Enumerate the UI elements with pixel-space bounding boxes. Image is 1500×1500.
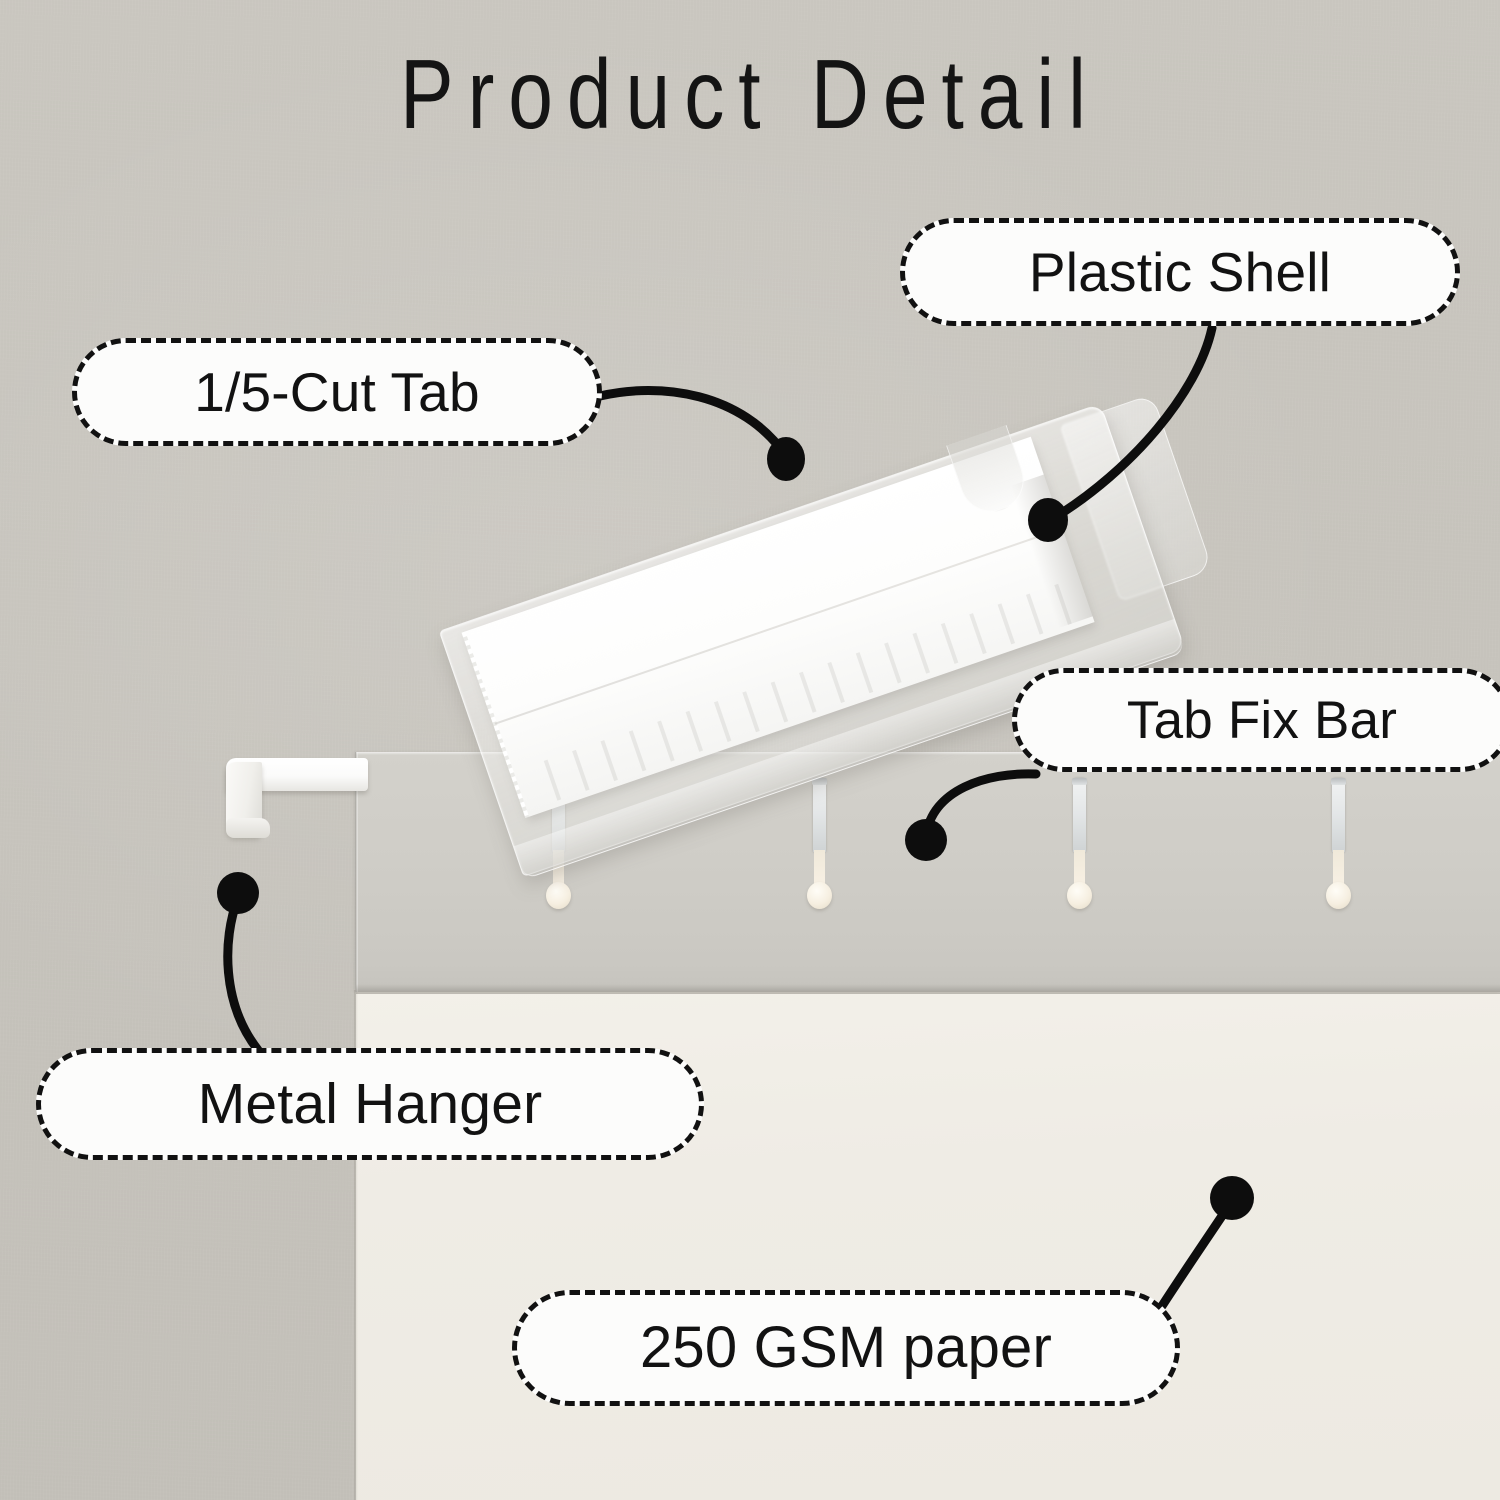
label-text: Metal Hanger [198, 1076, 543, 1133]
pin-slot [1332, 778, 1345, 852]
metal-hanger-hook [216, 758, 366, 840]
product-detail-infographic: Product Detail 1/5-Cut Tab Plastic Shell… [0, 0, 1500, 1500]
label-text: 1/5-Cut Tab [194, 365, 480, 420]
plastic-shell [439, 403, 1186, 877]
folder-bottom-shadow [356, 984, 1500, 994]
label-text: Tab Fix Bar [1127, 694, 1397, 747]
label-text: Plastic Shell [1029, 245, 1331, 300]
label-tab-fix-bar[interactable]: Tab Fix Bar [1012, 668, 1500, 772]
pin-head [1326, 882, 1351, 909]
tab-fix-bar-pin [1325, 778, 1351, 918]
label-metal-hanger[interactable]: Metal Hanger [36, 1048, 704, 1160]
pin-cap [1331, 778, 1346, 785]
page-title: Product Detail [135, 38, 1365, 151]
label-text: 250 GSM paper [640, 1319, 1052, 1377]
label-250-gsm-paper[interactable]: 250 GSM paper [512, 1290, 1180, 1406]
label-one-fifth-cut-tab[interactable]: 1/5-Cut Tab [72, 338, 602, 446]
shell-body [439, 403, 1186, 877]
label-plastic-shell[interactable]: Plastic Shell [900, 218, 1460, 326]
hanger-foot [226, 818, 270, 838]
